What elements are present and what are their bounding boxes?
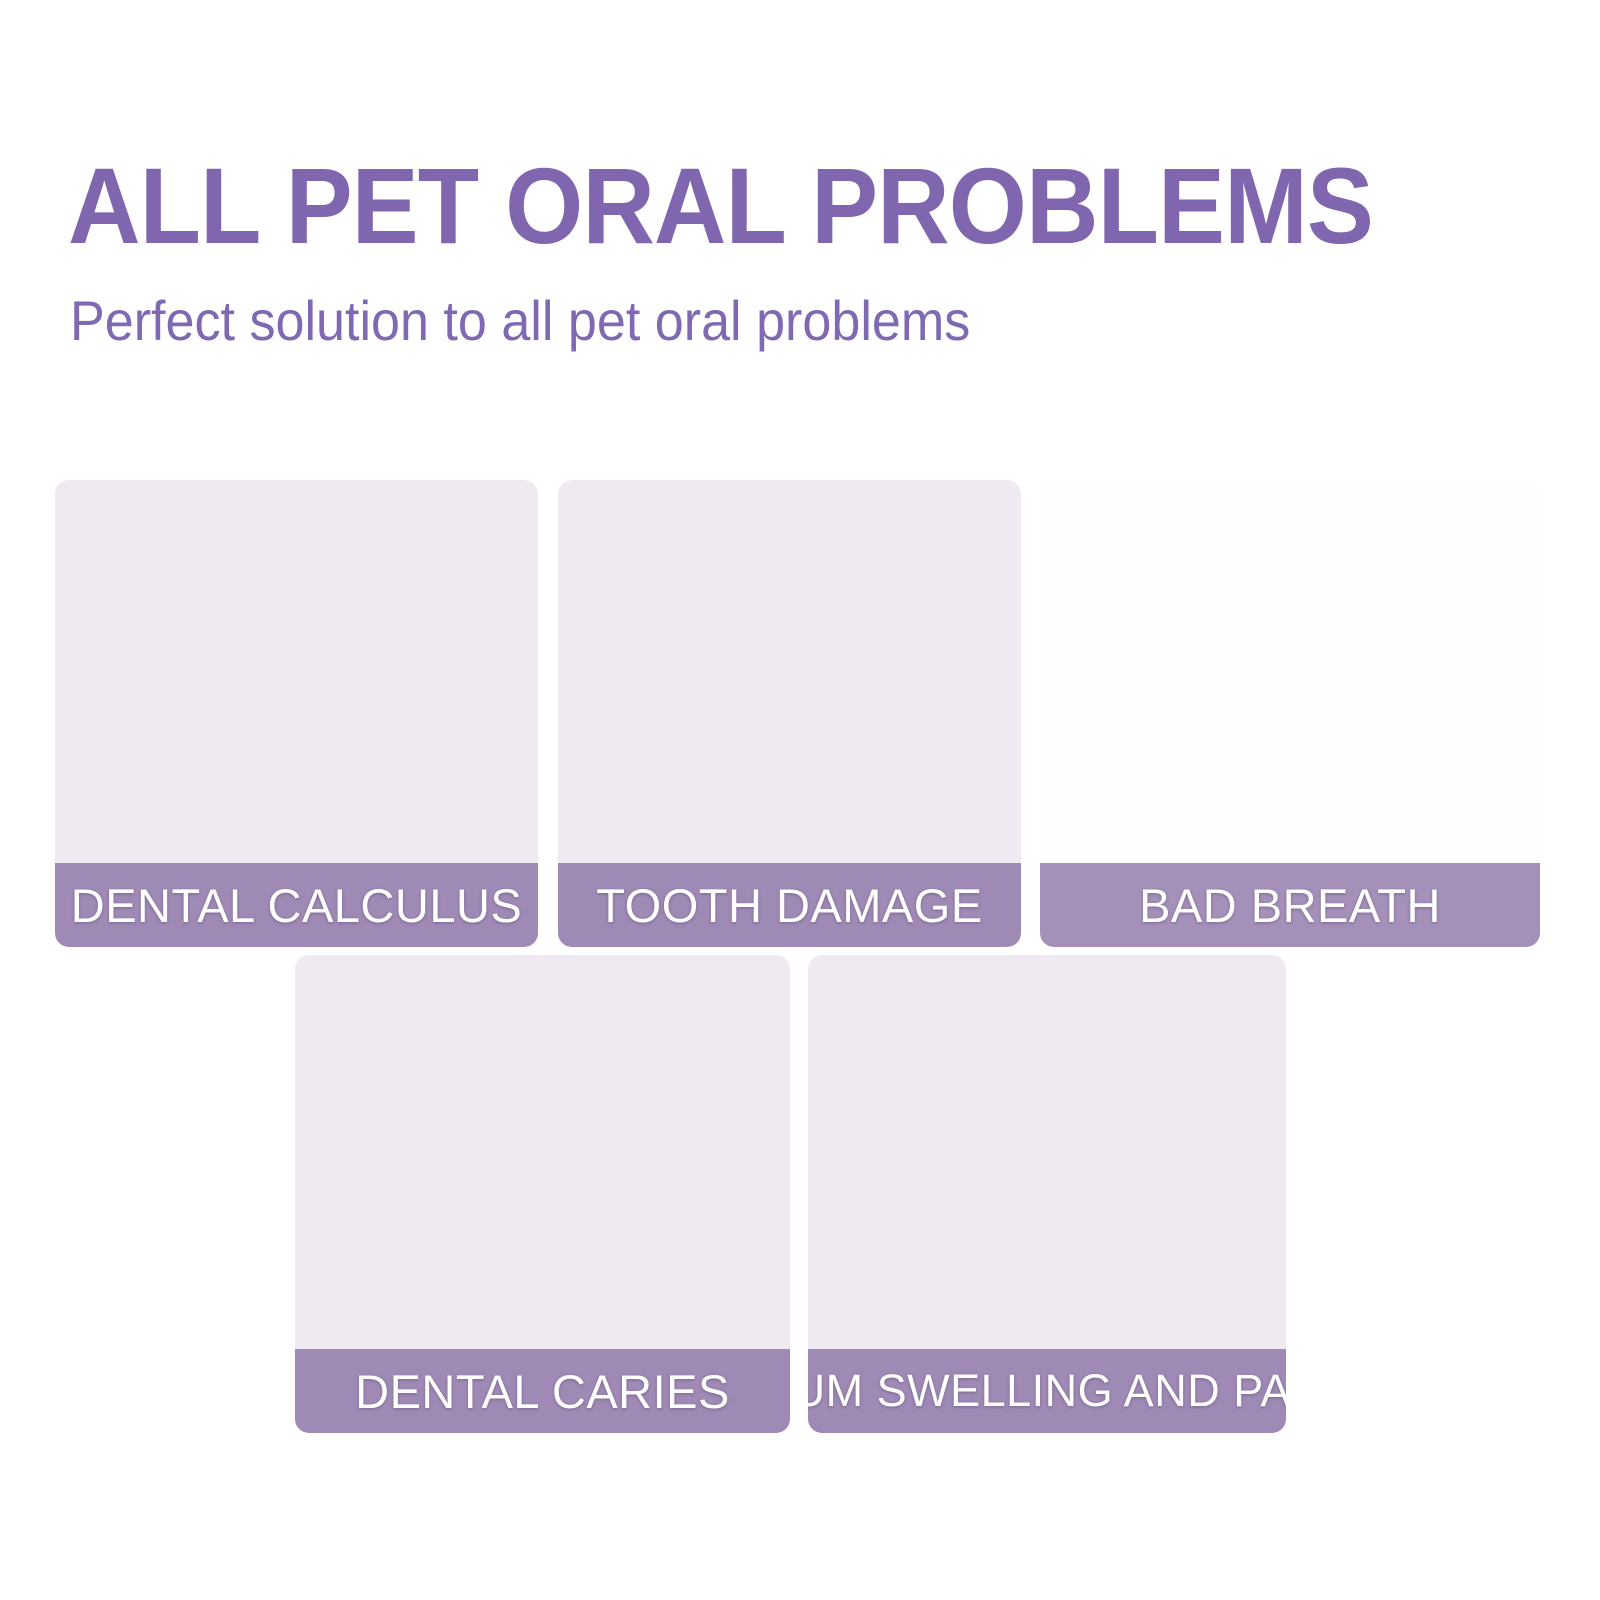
problem-card-bad-breath[interactable]: BAD BREATH — [1040, 480, 1540, 947]
promo-banner: ALL PET ORAL PROBLEMS Perfect solution t… — [0, 0, 1600, 1600]
problem-card-dental-calculus[interactable]: DENTAL CALCULUS — [55, 480, 538, 947]
problem-card-dental-caries[interactable]: DENTAL CARIES — [295, 955, 790, 1433]
problem-card-gum-swelling[interactable]: GUM SWELLING AND PAIN — [808, 955, 1286, 1433]
card-caption: GUM SWELLING AND PAIN — [808, 1349, 1286, 1433]
card-caption: BAD BREATH — [1040, 863, 1540, 947]
card-caption: DENTAL CALCULUS — [55, 863, 538, 947]
problem-card-tooth-damage[interactable]: TOOTH DAMAGE — [558, 480, 1021, 947]
card-caption: TOOTH DAMAGE — [558, 863, 1021, 947]
card-caption: DENTAL CARIES — [295, 1349, 790, 1433]
page-title: ALL PET ORAL PROBLEMS — [68, 152, 1373, 260]
page-subtitle: Perfect solution to all pet oral problem… — [70, 292, 970, 351]
